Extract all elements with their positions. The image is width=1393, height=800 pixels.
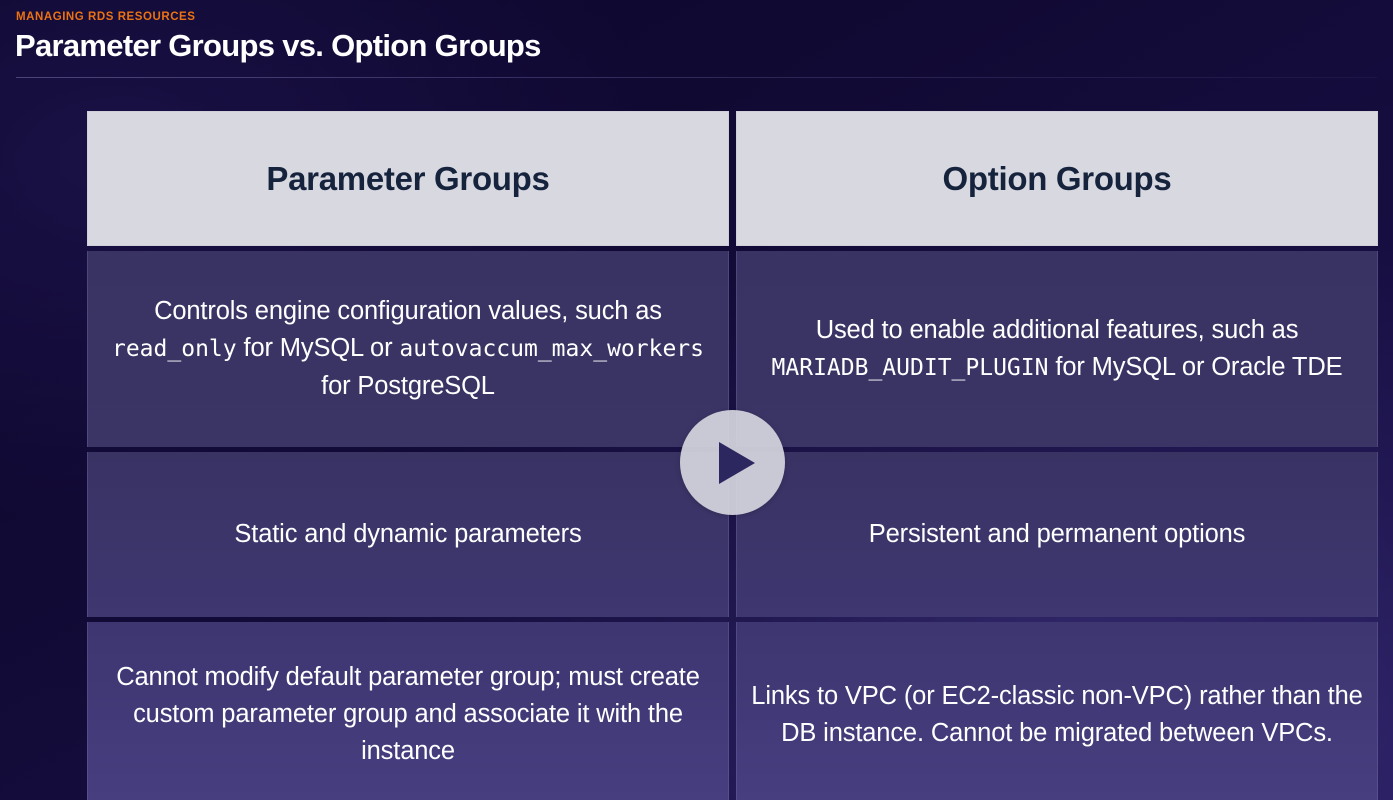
cell-text: Links to VPC (or EC2-classic non-VPC) ra… [751, 678, 1363, 752]
cell-text: Persistent and permanent options [869, 516, 1246, 553]
cell-text: Static and dynamic parameters [234, 516, 581, 553]
table-row: Static and dynamic parameters [87, 452, 729, 617]
table-header-parameter-groups: Parameter Groups [87, 111, 729, 246]
table-row: Used to enable additional features, such… [736, 251, 1378, 447]
slide-header: MANAGING RDS RESOURCES Parameter Groups … [0, 0, 1393, 78]
section-kicker: MANAGING RDS RESOURCES [16, 11, 196, 23]
cell-text: Cannot modify default parameter group; m… [102, 659, 714, 770]
slide-canvas: MANAGING RDS RESOURCES Parameter Groups … [0, 0, 1393, 800]
cell-text: Used to enable additional features, such… [751, 312, 1363, 387]
table-row: Controls engine configuration values, su… [87, 251, 729, 447]
play-button[interactable] [680, 410, 785, 515]
page-title: Parameter Groups vs. Option Groups [15, 28, 541, 64]
table-row: Persistent and permanent options [736, 452, 1378, 617]
table-row: Cannot modify default parameter group; m… [87, 622, 729, 800]
play-icon [711, 442, 755, 484]
table-row: Links to VPC (or EC2-classic non-VPC) ra… [736, 622, 1378, 800]
cell-text: Controls engine configuration values, su… [102, 293, 714, 405]
table-header-option-groups: Option Groups [736, 111, 1378, 246]
header-divider [16, 77, 1377, 78]
